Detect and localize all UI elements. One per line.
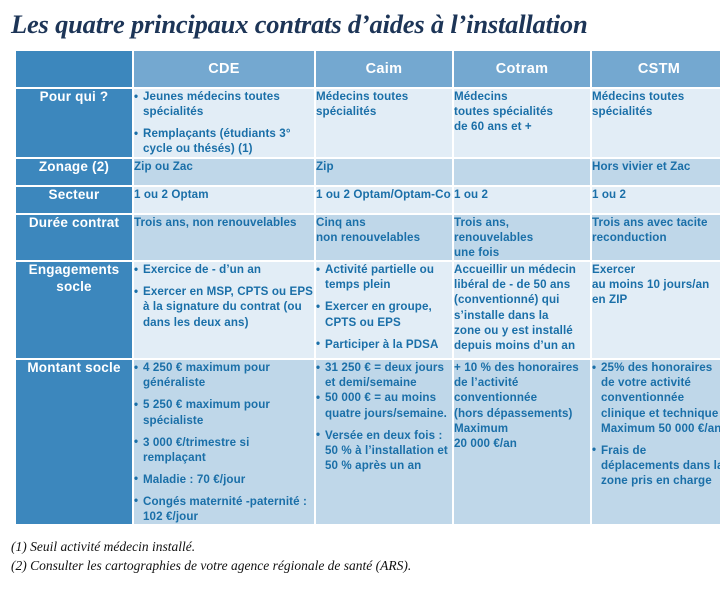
bullet-list: 4 250 € maximum pour généraliste5 250 € … (134, 360, 314, 524)
column-header-caim: Caim (316, 51, 452, 87)
list-item: Versée en deux fois : 50 % à l’installat… (316, 428, 452, 473)
row-label-4: Durée contrat (16, 215, 132, 260)
table-row: Engagements socleExercice de - d’un anEx… (16, 262, 720, 358)
cell-line: Trois ans, renouvelables (454, 215, 590, 245)
cell-line: Zip (316, 159, 452, 174)
cell-line: de 60 ans et + (454, 119, 590, 134)
cell-line: Médecins toutes (316, 89, 452, 104)
list-item: Activité partielle ou temps plein (316, 262, 452, 292)
cell-line: 1 ou 2 Optam (134, 187, 314, 202)
cell-1-caim: Médecins toutesspécialités (316, 89, 452, 157)
bullet-list: Jeunes médecins toutes spécialitésRempla… (134, 89, 314, 156)
cell-line (454, 159, 590, 174)
cell-line: Maximum (454, 421, 590, 436)
cell-4-cstm: Trois ans avec tacitereconduction (592, 215, 720, 260)
bullet-list: 31 250 € = deux jours et demi/semaine50 … (316, 360, 452, 420)
infographic-page: Les quatre principaux contrats d’aides à… (0, 0, 720, 598)
cell-2-cde: Zip ou Zac (134, 159, 314, 185)
column-header-cotram: Cotram (454, 51, 590, 87)
cell-line: s’installe dans la (454, 308, 590, 323)
cell-6-cotram: + 10 % des honorairesde l’activitéconven… (454, 360, 590, 524)
row-label-5: Engagements socle (16, 262, 132, 358)
table-row: Zonage (2)Zip ou ZacZip Hors vivier et Z… (16, 159, 720, 185)
list-item: 50 000 € = au moins quatre jours/semaine… (316, 390, 452, 420)
cell-4-cotram: Trois ans, renouvelablesune fois (454, 215, 590, 260)
cell-5-caim: Activité partielle ou temps pleinExercer… (316, 262, 452, 358)
cell-5-cstm: Exercerau moins 10 jours/anen ZIP (592, 262, 720, 358)
bullet-list: Activité partielle ou temps pleinExercer… (316, 262, 452, 351)
cell-line: Trois ans, non renouvelables (134, 215, 314, 230)
cell-line: 20 000 €/an (454, 436, 590, 451)
list-item: Exercer en MSP, CPTS ou EPS à la signatu… (134, 284, 314, 329)
cell-line: une fois (454, 245, 590, 260)
cell-2-cotram (454, 159, 590, 185)
cell-line: depuis moins d’un an (454, 338, 590, 353)
footnotes: (1) Seuil activité médecin installé. (2)… (0, 526, 720, 576)
list-item: 4 250 € maximum pour généraliste (134, 360, 314, 390)
list-item: Exercer en groupe, CPTS ou EPS (316, 299, 452, 329)
list-item: Frais de déplacements dans la zone pris … (592, 443, 720, 488)
footnote-2: (2) Consulter les cartographies de votre… (11, 556, 720, 576)
cell-line: + 10 % des honoraires (454, 360, 590, 375)
cell-line: (conventionné) qui (454, 292, 590, 307)
cell-line: en ZIP (592, 292, 720, 307)
cell-line: Zip ou Zac (134, 159, 314, 174)
cell-line: Exercer (592, 262, 720, 277)
row-label-6: Montant socle (16, 360, 132, 524)
table-header: CDE Caim Cotram CSTM (16, 51, 720, 87)
cell-3-cotram: 1 ou 2 (454, 187, 590, 213)
column-header-cstm: CSTM (592, 51, 720, 87)
cell-5-cde: Exercice de - d’un anExercer en MSP, CPT… (134, 262, 314, 358)
list-item: 5 250 € maximum pour spécialiste (134, 397, 314, 427)
cell-3-cstm: 1 ou 2 (592, 187, 720, 213)
cell-line: de l’activité (454, 375, 590, 390)
cell-line: spécialités (316, 104, 452, 119)
list-item: Exercice de - d’un an (134, 262, 314, 277)
cell-line: Accueillir un médecin (454, 262, 590, 277)
row-label-3: Secteur (16, 187, 132, 213)
cell-line: Cinq ans (316, 215, 452, 230)
row-label-1: Pour qui ? (16, 89, 132, 157)
cell-line: 1 ou 2 (592, 187, 720, 202)
cell-line: (hors dépassements) (454, 406, 590, 421)
list-item: Participer à la PDSA (316, 337, 452, 352)
cell-4-caim: Cinq ansnon renouvelables (316, 215, 452, 260)
cell-1-cde: Jeunes médecins toutes spécialitésRempla… (134, 89, 314, 157)
page-title: Les quatre principaux contrats d’aides à… (0, 0, 720, 41)
cell-line: toutes spécialités (454, 104, 590, 119)
cell-2-cstm: Hors vivier et Zac (592, 159, 720, 185)
bullet-list: 25% des honoraires de votre activité con… (592, 360, 720, 488)
list-item: Remplaçants (étudiants 3° cycle ou thésé… (134, 126, 314, 156)
cell-1-cotram: Médecinstoutes spécialitésde 60 ans et + (454, 89, 590, 157)
cell-2-caim: Zip (316, 159, 452, 185)
cell-line: libéral de - de 50 ans (454, 277, 590, 292)
table-row: Secteur1 ou 2 Optam1 ou 2 Optam/Optam-Co… (16, 187, 720, 213)
cell-line: non renouvelables (316, 230, 452, 245)
cell-4-cde: Trois ans, non renouvelables (134, 215, 314, 260)
cell-line: au moins 10 jours/an (592, 277, 720, 292)
list-item: 31 250 € = deux jours et demi/semaine (316, 360, 452, 390)
table-row: Pour qui ?Jeunes médecins toutes spécial… (16, 89, 720, 157)
list-item: 3 000 €/trimestre si remplaçant (134, 435, 314, 465)
cell-6-caim: 31 250 € = deux jours et demi/semaine50 … (316, 360, 452, 524)
bullet-list: Versée en deux fois : 50 % à l’installat… (316, 428, 452, 473)
table-row: Montant socle4 250 € maximum pour généra… (16, 360, 720, 524)
cell-line: Trois ans avec tacite (592, 215, 720, 230)
table-row: Durée contratTrois ans, non renouvelable… (16, 215, 720, 260)
table-body: Pour qui ?Jeunes médecins toutes spécial… (16, 89, 720, 524)
cell-line: Médecins toutes (592, 89, 720, 104)
contracts-table-wrapper: CDE Caim Cotram CSTM Pour qui ?Jeunes mé… (14, 49, 716, 526)
cell-line: reconduction (592, 230, 720, 245)
cell-line: Médecins (454, 89, 590, 104)
row-label-2: Zonage (2) (16, 159, 132, 185)
cell-3-caim: 1 ou 2 Optam/Optam-Co (316, 187, 452, 213)
footnote-1: (1) Seuil activité médecin installé. (11, 537, 720, 557)
bullet-list: Exercice de - d’un anExercer en MSP, CPT… (134, 262, 314, 329)
list-item: Congés maternité -paternité : 102 €/jour (134, 494, 314, 524)
column-header-cde: CDE (134, 51, 314, 87)
table-corner-cell (16, 51, 132, 87)
list-item: Jeunes médecins toutes spécialités (134, 89, 314, 119)
cell-line: 1 ou 2 (454, 187, 590, 202)
cell-3-cde: 1 ou 2 Optam (134, 187, 314, 213)
cell-line: conventionnée (454, 390, 590, 405)
cell-line: zone ou y est installé (454, 323, 590, 338)
contracts-table: CDE Caim Cotram CSTM Pour qui ?Jeunes mé… (14, 49, 720, 526)
list-item: Maladie : 70 €/jour (134, 472, 314, 487)
cell-6-cde: 4 250 € maximum pour généraliste5 250 € … (134, 360, 314, 524)
table-header-row: CDE Caim Cotram CSTM (16, 51, 720, 87)
cell-5-cotram: Accueillir un médecinlibéral de - de 50 … (454, 262, 590, 358)
list-item: 25% des honoraires de votre activité con… (592, 360, 720, 435)
cell-line: Hors vivier et Zac (592, 159, 720, 174)
cell-line: 1 ou 2 Optam/Optam-Co (316, 187, 452, 202)
cell-1-cstm: Médecins toutesspécialités (592, 89, 720, 157)
cell-line: spécialités (592, 104, 720, 119)
cell-6-cstm: 25% des honoraires de votre activité con… (592, 360, 720, 524)
